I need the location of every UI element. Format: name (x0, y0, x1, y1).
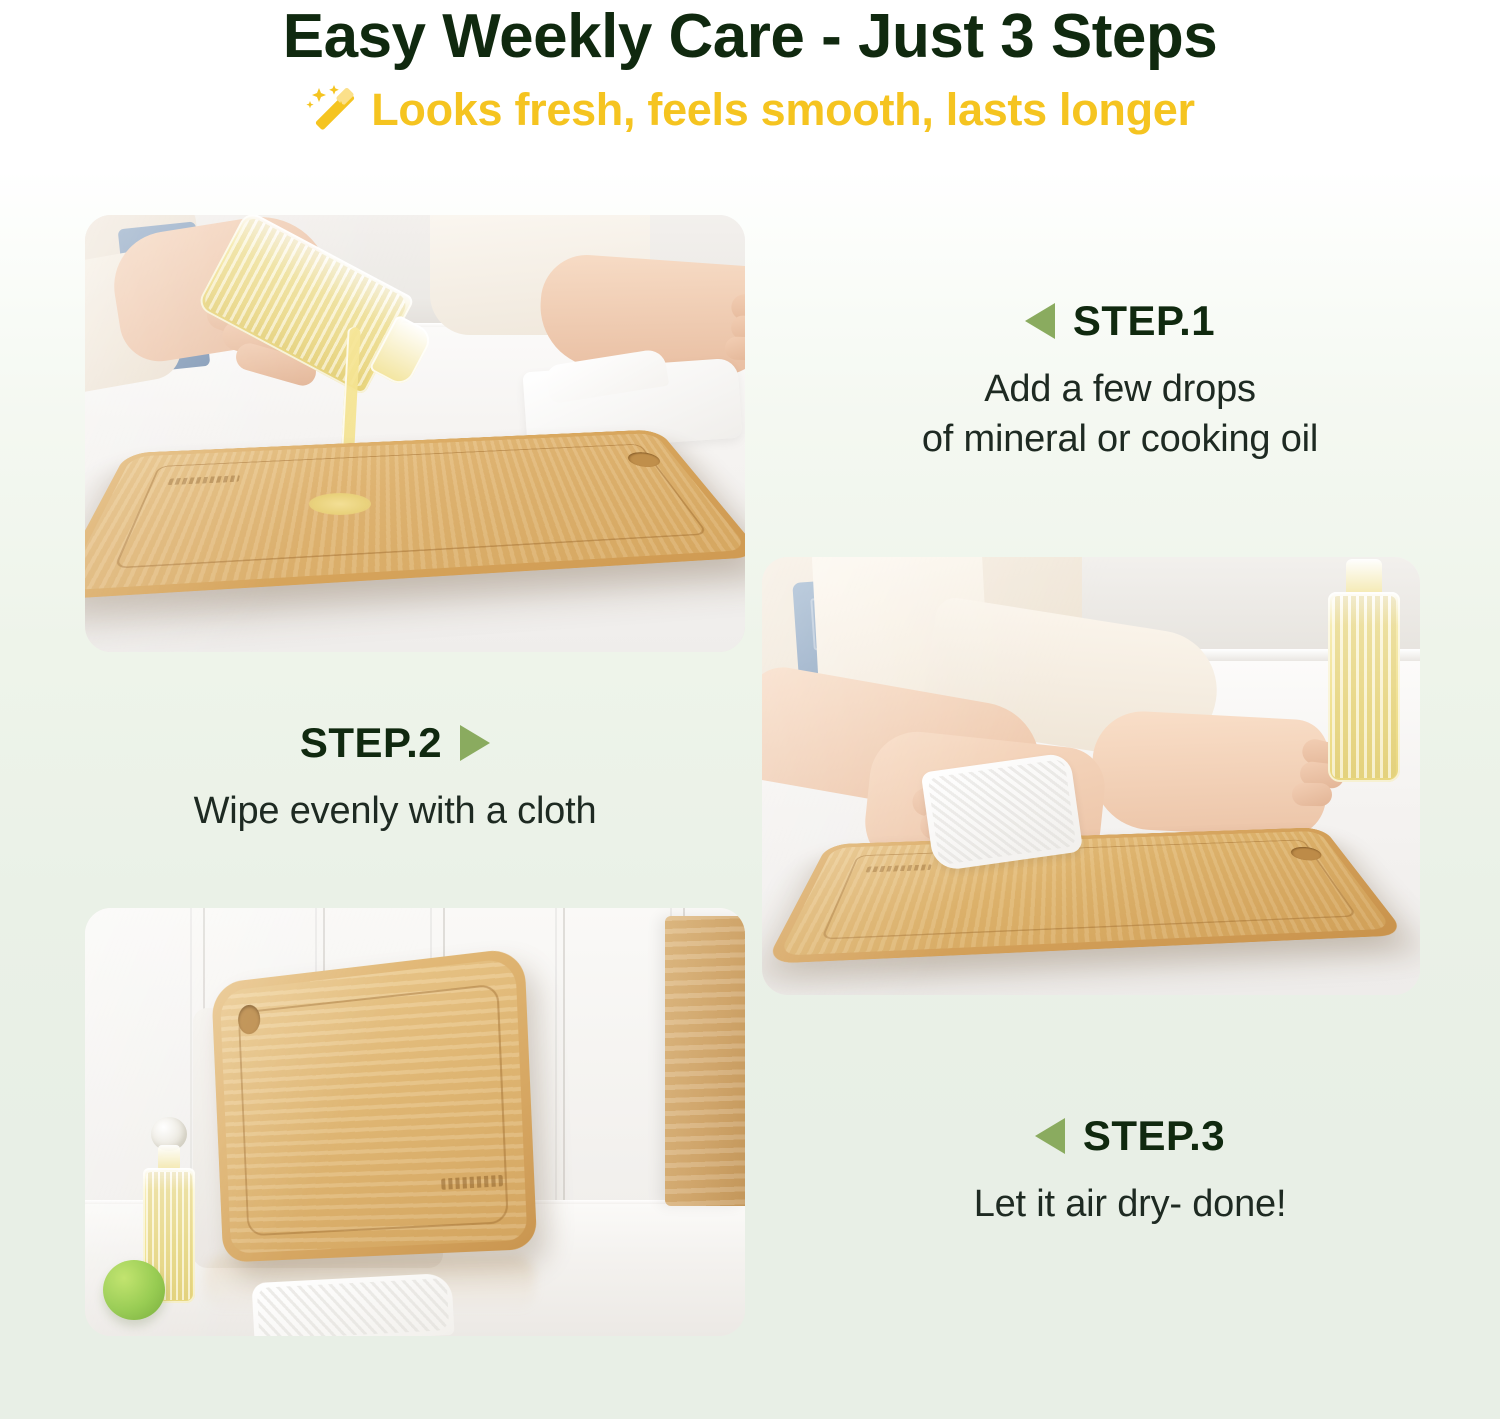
page-background: Easy Weekly Care - Just 3 Steps Looks fr… (0, 0, 1500, 1419)
step-2-text: STEP.2 Wipe evenly with a cloth (55, 722, 735, 836)
step-1-photo (85, 215, 745, 652)
step-1-label: STEP.1 (1073, 300, 1215, 342)
triangle-left-icon (1025, 303, 1055, 339)
step-2-description: Wipe evenly with a cloth (55, 786, 735, 836)
step-1-description-line-2: of mineral or cooking oil (790, 414, 1450, 464)
page-subtitle: Looks fresh, feels smooth, lasts longer (371, 84, 1195, 136)
triangle-left-icon (1035, 1118, 1065, 1154)
scene-air-dry (85, 908, 745, 1336)
scene-pour-oil (85, 215, 745, 652)
magic-wand-icon (305, 83, 363, 137)
header: Easy Weekly Care - Just 3 Steps Looks fr… (0, 0, 1500, 175)
step-1-description-line-1: Add a few drops (790, 364, 1450, 414)
oil-puddle (309, 493, 371, 515)
step-3-label: STEP.3 (1083, 1115, 1225, 1157)
scene-wipe-board (762, 557, 1420, 995)
wiping-cloth (921, 752, 1083, 872)
step-1-text: STEP.1 Add a few drops of mineral or coo… (790, 300, 1450, 464)
step-3-description: Let it air dry- done! (830, 1179, 1430, 1229)
step-1-description: Add a few drops of mineral or cooking oi… (790, 364, 1450, 464)
step-2-photo (762, 557, 1420, 995)
folded-towel (252, 1273, 455, 1336)
step-2-label: STEP.2 (300, 722, 442, 764)
step-1-heading: STEP.1 (790, 300, 1450, 342)
page-title: Easy Weekly Care - Just 3 Steps (0, 0, 1500, 69)
step-3-text: STEP.3 Let it air dry- done! (830, 1115, 1430, 1229)
oil-bottle (1328, 567, 1400, 782)
step-3-heading: STEP.3 (830, 1115, 1430, 1157)
step-2-heading: STEP.2 (55, 722, 735, 764)
right-hand (1089, 709, 1330, 839)
knife-block (665, 916, 745, 1206)
step-3-photo (85, 908, 745, 1336)
bamboo-cutting-board (211, 947, 537, 1263)
step-2-description-line-1: Wipe evenly with a cloth (55, 786, 735, 836)
subtitle-row: Looks fresh, feels smooth, lasts longer (0, 83, 1500, 137)
step-3-description-line-1: Let it air dry- done! (830, 1179, 1430, 1229)
lime (103, 1260, 165, 1320)
triangle-right-icon (460, 725, 490, 761)
